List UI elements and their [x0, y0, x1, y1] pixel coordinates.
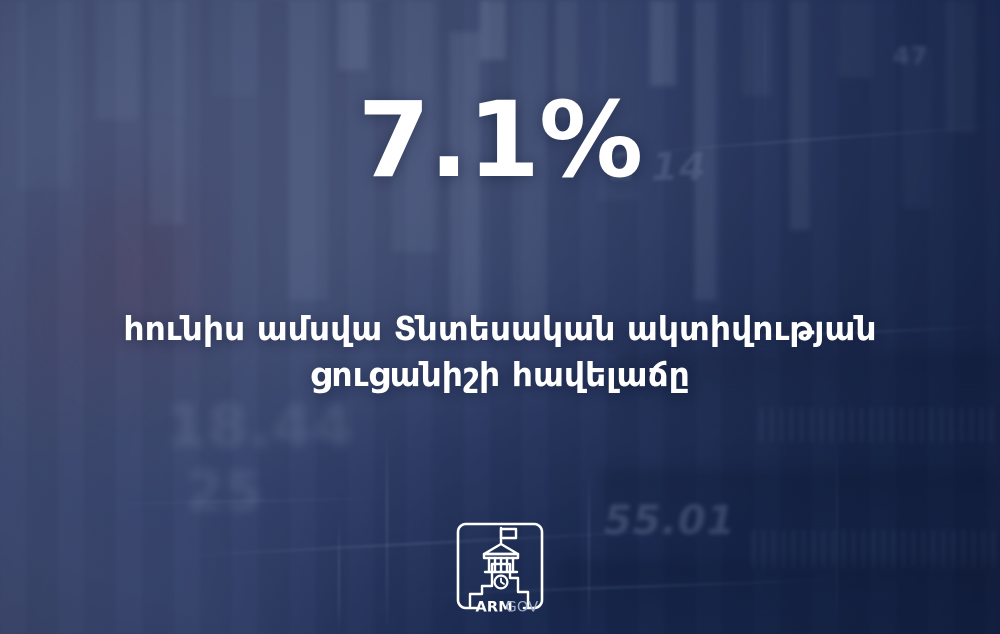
armgov-wordmark-light: GOV [506, 600, 539, 616]
card-content: 7.1% հունիս ամսվա Տնտեսական ակտիվության … [0, 0, 1000, 634]
flag-icon [501, 528, 516, 544]
clock-icon [495, 576, 508, 589]
armgov-logo-graphic: ARM GOV [454, 520, 546, 616]
subtitle-line-2: ցուցանիշի հավելաճը [60, 352, 940, 398]
subtitle-line-1: հունիս ամսվա Տնտեսական ակտիվության [60, 306, 940, 352]
armgov-logo[interactable]: ARM GOV [454, 520, 546, 616]
social-media-info-card: 18.44 25 55.01 2 14 47 7.1% հունիս ամսվա… [0, 0, 1000, 634]
subtitle-text: հունիս ամսվա Տնտեսական ակտիվության ցուցա… [60, 306, 940, 397]
headline-statistic: 7.1% [0, 88, 1000, 192]
